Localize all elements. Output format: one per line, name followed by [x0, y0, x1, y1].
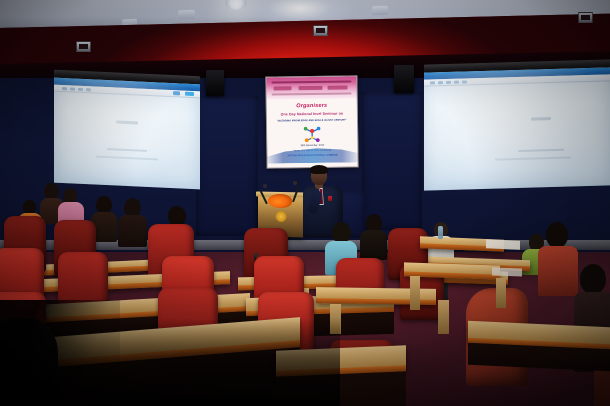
- downlight-3-icon: [372, 6, 388, 16]
- desk-leg-r2-b: [438, 300, 449, 334]
- slide-title-left: [116, 121, 138, 125]
- seminar-banner: Organisers One Day National level Semina…: [265, 75, 358, 168]
- slide-line-left-2: [96, 156, 158, 161]
- screen-glow-right: [424, 67, 610, 190]
- podium-emblem-icon: [276, 211, 287, 222]
- left-projection-screen: [54, 70, 200, 190]
- banner-header-band: [266, 76, 356, 99]
- screen-surface-left: [54, 78, 200, 190]
- paper-sheet-right: [486, 239, 520, 249]
- wall-panel-left: [196, 96, 258, 236]
- attendee-head: [168, 206, 186, 226]
- paper-sheet-right-2: [492, 267, 522, 276]
- ceiling-speaker-right: [394, 65, 414, 93]
- banner-organisers-label: Organisers: [296, 104, 327, 110]
- presenter-hair: [310, 165, 328, 174]
- desk-leg-right-a: [410, 276, 420, 310]
- desk-leg-right-b: [496, 278, 506, 308]
- desk-row-1-right: [276, 345, 406, 376]
- attendee-head: [332, 222, 351, 243]
- banner-logo-icon: [299, 125, 325, 143]
- attendee-torso: [360, 230, 387, 260]
- right-projection-screen: [424, 59, 610, 190]
- attendee-torso: [118, 215, 147, 247]
- desk-leg-r2-a: [330, 304, 341, 334]
- screen-surface-right: [424, 67, 610, 190]
- photograph-scene: Organisers One Day National level Semina…: [0, 0, 610, 406]
- banner-date-line: 18th November, 2017: [300, 145, 324, 148]
- podium-flower-arrangement: [268, 194, 292, 208]
- slide-button-left-2: [173, 91, 180, 95]
- slide-line-right-2: [495, 157, 571, 161]
- attendee-torso: [538, 246, 578, 296]
- foreground-silhouette: [0, 318, 58, 406]
- attendee-head: [580, 264, 606, 294]
- banner-frame: Organisers One Day National level Semina…: [265, 75, 358, 168]
- water-bottle: [438, 226, 443, 239]
- spotlight-center-icon: [225, 0, 247, 10]
- slide-title-right: [531, 117, 551, 121]
- attendee-head: [546, 222, 568, 248]
- slide-line-right-1: [518, 149, 564, 152]
- ceiling-speaker-left: [206, 70, 224, 96]
- slide-button-left: [185, 92, 194, 96]
- wall-panel-right: [362, 92, 422, 230]
- banner-topic-line: "BLENDING KNOWLEDGE AND SKILLS IN 21ST C…: [277, 120, 347, 123]
- downlight-1-icon: [178, 10, 195, 20]
- banner-event-line: One Day National level Seminar on: [281, 113, 344, 117]
- slide-line-left-1: [107, 148, 147, 152]
- presenter-badge: [328, 196, 332, 201]
